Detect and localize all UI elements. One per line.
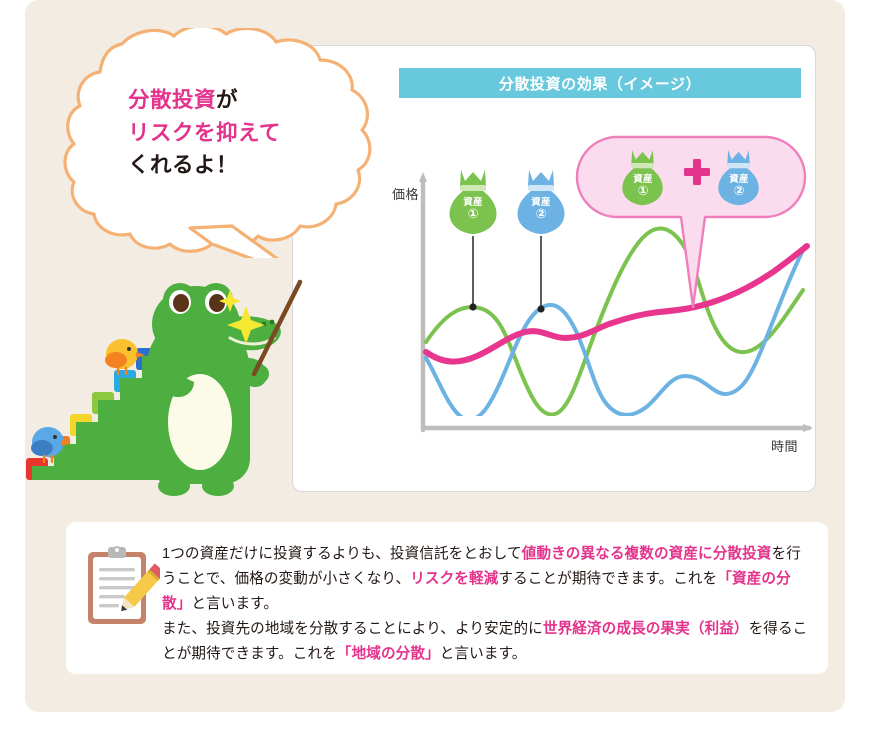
note-text: 1つの資産だけに投資するよりも、投資信託をとおして値動きの異なる複数の資産に分散… [162,542,812,667]
bubble-line3: くれるよ！ [128,153,238,177]
note-p1-seg6: と言います。 [191,596,278,612]
asset-2-bag: 資産 ② [509,164,573,236]
note-p1-seg0: 1つの資産だけに投資するよりも、投資信託をとおして [162,546,522,562]
bubble-line1-highlight: 分散投資 [128,88,216,112]
speech-bubble: 分散投資が リスクを抑えて くれるよ！ [62,28,402,258]
note-paragraph-2: また、投資先の地域を分散することにより、より安定的に世界経済の成長の果実（利益）… [162,617,812,667]
note-paragraph-1: 1つの資産だけに投資するよりも、投資信託をとおして値動きの異なる複数の資産に分散… [162,542,812,617]
combined-assets-callout: 資産 ① 資産 ② [575,135,807,310]
asset-1-bag: 資産 ① [441,164,505,236]
bubble-line2-highlight: リスクを抑えて [128,121,281,145]
note-p2-seg1: 世界経済の成長の果実（利益） [543,621,749,637]
clipboard-pencil-icon [82,544,160,628]
marker-leader-lines [469,236,544,313]
note-p2-seg3: 「地域の分散」 [337,646,440,662]
bubble-line1-plain: が [216,88,238,112]
note-p2-seg0: また、投資先の地域を分散することにより、より安定的に [162,621,543,637]
note-p1-seg1: 値動きの異なる複数の資産に分散投資 [522,546,772,562]
note-p1-seg4: することが期待できます。これを [498,571,717,587]
crocodile-mascot [18,262,308,502]
speech-bubble-text: 分散投資が リスクを抑えて くれるよ！ [128,84,388,182]
note-box: 1つの資産だけに投資するよりも、投資信託をとおして値動きの異なる複数の資産に分散… [66,522,828,674]
note-p1-seg3: リスクを軽減 [410,571,498,587]
note-p2-seg4: と言います。 [440,646,527,662]
